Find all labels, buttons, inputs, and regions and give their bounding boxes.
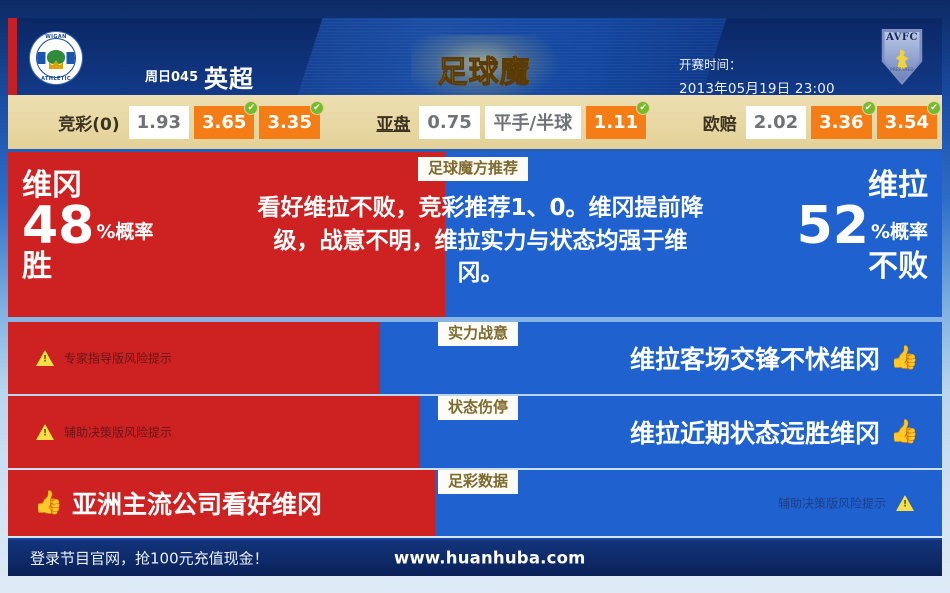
odds-group-label: 竞彩(0) [58, 110, 119, 135]
odds-value: 1.93 [137, 112, 181, 133]
odds-cell[interactable]: 1.93 [129, 106, 189, 139]
match-header: WIGAN ATHLETIC 周日045 英超 足球魔方 开赛时间： 2013年… [8, 18, 942, 95]
odds-group-label: 亚盘 [376, 110, 410, 135]
tab-form: 状态伤停 [438, 396, 518, 420]
broadcast-graphic: WIGAN ATHLETIC 周日045 英超 足球魔方 开赛时间： 2013年… [0, 0, 950, 593]
warning-icon [36, 424, 54, 440]
risk-note-text: 辅助决策版风险提示 [64, 424, 172, 441]
thumbs-up-icon: 👍 [34, 492, 60, 514]
risk-note-text: 辅助决策版风险提示 [778, 495, 886, 512]
odds-cell[interactable]: 2.02 [746, 106, 806, 139]
check-icon: ✔ [244, 101, 258, 115]
tab-strength: 实力战意 [438, 322, 518, 346]
odds-value: 0.75 [427, 112, 471, 133]
row-verdict-text: 维拉客场交锋不怵维冈 [630, 340, 880, 376]
away-crest-text: AVFC [880, 32, 924, 43]
comparison-row-lottery-data: 足彩数据 👍 亚洲主流公司看好维冈 辅助决策版风险提示 [8, 470, 942, 536]
footer-website-url[interactable]: www.huanhuba.com [394, 549, 586, 568]
odds-cell[interactable]: 3.36 ✔ [811, 106, 871, 139]
odds-cell[interactable]: 1.11 ✔ [586, 106, 646, 139]
comparison-row-form: 状态伤停 辅助决策版风险提示 维拉近期状态远胜维冈 👍 [8, 396, 942, 468]
thumbs-up-icon: 👍 [890, 421, 916, 443]
risk-note-left: 专家指导版风险提示 [36, 350, 172, 367]
home-team-crest: WIGAN ATHLETIC [30, 32, 82, 84]
brand-logo-text: 足球魔方 [425, 47, 543, 95]
away-probability-value: 52 [797, 202, 869, 251]
away-crest-sub: PREPARED [880, 67, 924, 72]
odds-value: 1.11 [594, 112, 638, 133]
comparison-row-strength: 实力战意 专家指导版风险提示 维拉客场交锋不怵维冈 👍 [8, 322, 942, 394]
check-icon: ✔ [927, 101, 941, 115]
odds-group-yapan: 亚盘 0.75 平手/半球 1.11 ✔ [367, 106, 651, 139]
odds-bar: 竞彩(0) 1.93 3.65 ✔ 3.35 ✔ 亚盘 0.75 平手/半球 [8, 95, 942, 149]
home-crest-bottom-text: ATHLETIC [30, 76, 82, 82]
warning-icon [896, 495, 914, 511]
row-verdict-left: 👍 亚洲主流公司看好维冈 [34, 485, 322, 521]
odds-value: 3.65 [202, 112, 246, 133]
odds-group-label: 欧赔 [703, 110, 737, 135]
odds-value: 3.35 [267, 112, 311, 133]
check-icon: ✔ [636, 101, 650, 115]
odds-group-jingcai: 竞彩(0) 1.93 3.65 ✔ 3.35 ✔ [49, 106, 325, 139]
home-probability-value: 48 [22, 202, 94, 251]
header-red-accent-bar [8, 18, 17, 95]
home-crest-top-text: WIGAN [30, 34, 82, 40]
away-team-crest: AVFC PREPARED [880, 29, 924, 87]
footer-bar: 登录节目官网，抢100元充值现金！ www.huanhuba.com [8, 538, 942, 576]
recommendation-band: 足球魔方推荐 维冈 48 %概率 胜 看好维拉不败，竞彩推荐1、0。维冈提前降级… [8, 152, 942, 317]
footer-promo-text: 登录节目官网，抢100元充值现金！ [30, 548, 269, 569]
brand-logo: 足球魔方 [425, 47, 543, 93]
check-icon: ✔ [310, 101, 324, 115]
tab-lottery-data: 足彩数据 [438, 470, 518, 494]
row-verdict: 维拉客场交锋不怵维冈 👍 [630, 340, 916, 376]
row-verdict-text: 亚洲主流公司看好维冈 [72, 485, 322, 521]
odds-cell[interactable]: 3.65 ✔ [194, 106, 254, 139]
risk-note-right: 辅助决策版风险提示 [778, 495, 914, 512]
risk-note-text: 专家指导版风险提示 [64, 350, 172, 367]
odds-cell[interactable]: 3.54 ✔ [877, 106, 937, 139]
risk-note-left: 辅助决策版风险提示 [36, 424, 172, 441]
row-verdict: 维拉近期状态远胜维冈 👍 [630, 414, 916, 450]
league-name: 英超 [204, 59, 254, 94]
odds-value: 2.02 [754, 112, 798, 133]
odds-value: 3.54 [885, 112, 929, 133]
odds-cell[interactable]: 3.35 ✔ [259, 106, 319, 139]
thumbs-up-icon: 👍 [890, 347, 916, 369]
odds-value: 3.36 [819, 112, 863, 133]
tab-recommendation: 足球魔方推荐 [418, 157, 528, 181]
home-probability-unit: %概率 [96, 217, 153, 251]
kickoff-label: 开赛时间： [679, 54, 835, 73]
odds-cell[interactable]: 平手/半球 [485, 106, 581, 139]
warning-icon [36, 350, 54, 366]
check-icon: ✔ [862, 101, 876, 115]
away-probability: 维拉 52 %概率 不败 [797, 170, 928, 282]
away-outcome: 不败 [797, 251, 928, 283]
row-verdict-text: 维拉近期状态远胜维冈 [630, 414, 880, 450]
odds-cell[interactable]: 0.75 [419, 106, 479, 139]
odds-value: 平手/半球 [494, 109, 573, 135]
home-outcome: 胜 [22, 251, 153, 283]
recommendation-text: 看好维拉不败，竞彩推荐1、0。维冈提前降级，战意不明，维拉实力与状态均强于维冈。 [253, 192, 708, 290]
match-number: 周日045 [145, 66, 198, 85]
kickoff-block: 开赛时间： 2013年05月19日 23:00 [679, 54, 835, 95]
away-probability-unit: %概率 [871, 217, 928, 251]
home-probability: 维冈 48 %概率 胜 [22, 170, 153, 282]
kickoff-time: 2013年05月19日 23:00 [679, 77, 835, 95]
odds-group-oupei: 欧赔 2.02 3.36 ✔ 3.54 ✔ [694, 106, 942, 139]
